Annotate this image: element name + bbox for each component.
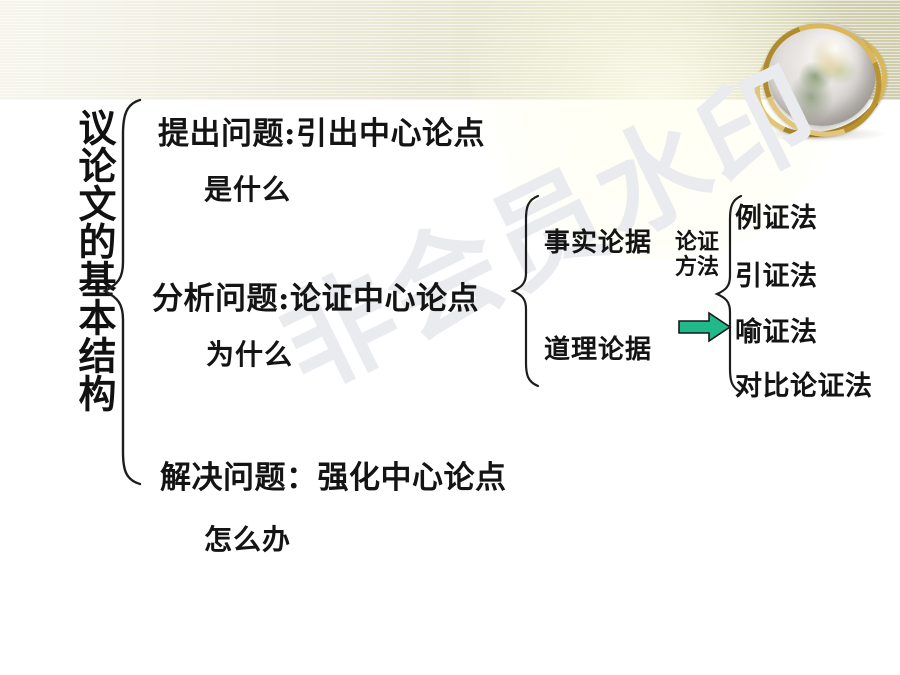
slide-canvas: 非会员水印 议论文的基本结构 提出问题:引出中心论点 是什么 分析问题:论证中心… [0, 0, 900, 675]
method-item-metaphor: 喻证法 [735, 310, 818, 349]
method-group-label-line2: 方法 [668, 255, 726, 280]
globe-gold-ring-inner [744, 4, 899, 155]
stage-2-heading: 分析问题:论证中心论点 [152, 273, 479, 318]
stage-3-subtext: 怎么办 [204, 518, 291, 558]
green-arrow-icon [678, 310, 732, 344]
stage-1-subtext: 是什么 [204, 168, 291, 208]
page-title-vertical: 议论文的基本结构 [52, 108, 112, 412]
stage-2-subtext: 为什么 [206, 333, 293, 373]
method-item-contrast: 对比论证法 [735, 364, 873, 403]
method-group-label: 论证 方法 [668, 230, 726, 279]
evidence-brace [508, 193, 544, 389]
method-item-citation: 引证法 [735, 254, 818, 293]
crystal-globe-image [748, 14, 898, 136]
method-group-label-line1: 论证 [668, 230, 726, 255]
stage-3-heading: 解决问题：强化中心论点 [160, 452, 507, 497]
method-item-example: 例证法 [735, 196, 818, 235]
stage-1-heading: 提出问题:引出中心论点 [158, 108, 485, 153]
evidence-item-reasoning: 道理论据 [544, 329, 652, 366]
evidence-item-factual: 事实论据 [544, 222, 652, 259]
